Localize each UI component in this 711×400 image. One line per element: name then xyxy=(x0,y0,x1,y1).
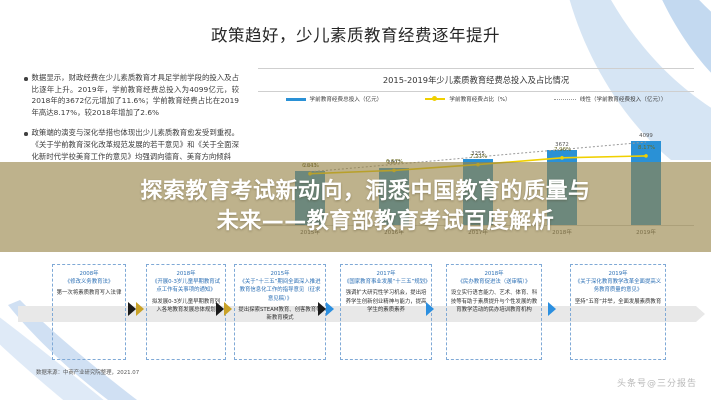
watermark: 头条号@三分报告 xyxy=(617,376,697,389)
timeline-card: 2018年《民办教育促进法（送审稿）》设立实行语言能力、艺术、体育、科技等有助于… xyxy=(446,264,542,360)
bullet-text: 数据显示，财政经费在少儿素质教育才具足学前学段的投入及占比逐年上升。2019年，… xyxy=(32,72,240,118)
article-title-line-1: 探索教育考试新动向，洞悉中国教育的质量与 xyxy=(0,177,711,207)
legend-swatch-line-icon xyxy=(425,98,445,100)
chevron-right-icon xyxy=(224,302,232,316)
bar-value-label: 4099 xyxy=(639,133,653,139)
timeline-card-description: 坚持“五育”并举，全面发展素质教育 xyxy=(575,298,661,306)
timeline-card-year: 2015年 xyxy=(270,269,289,277)
chart-legend: 学前教育经费总投入（亿元） 学前教育经费占比（%） 线性（学前教育经费投入（亿元… xyxy=(258,92,694,105)
timeline-card-year: 2017年 xyxy=(376,269,395,277)
timeline-arrow xyxy=(216,302,232,316)
timeline-card-description: 拟发展0-3岁儿童早期教育列入各地教育发展总体规划 xyxy=(150,298,222,315)
timeline-card-description: 第一次将素质教育写入法律 xyxy=(57,289,122,297)
timeline-arrow xyxy=(426,302,434,316)
bullet-list: 数据显示，财政经费在少儿素质教育才具足学前学段的投入及占比逐年上升。2019年，… xyxy=(24,72,239,171)
legend-label: 学前教育经费总投入（亿元） xyxy=(310,95,383,103)
timeline-card: 2017年《国家教育事业发展“十三五”规划》强调扩大研究性学习机会，提出培养学生… xyxy=(340,264,432,360)
policy-timeline: 2008年《修改义务教育法》第一次将素质教育写入法律2018年《开展0-3岁儿童… xyxy=(18,262,696,364)
legend-item-bar: 学前教育经费总投入（亿元） xyxy=(286,95,383,103)
timeline-card: 2008年《修改义务教育法》第一次将素质教育写入法律 xyxy=(52,264,126,360)
legend-item-line: 学前教育经费占比（%） xyxy=(425,95,510,103)
article-title-line-2: 未来——教育部教育考试百度解析 xyxy=(0,207,711,237)
timeline-card-description: 强调扩大研究性学习机会，提出培养学生创新创业精神与能力，提高学生的素质素养 xyxy=(344,289,428,314)
timeline-card-description: 提出探索STEAM教育、创客教育等新教育模式 xyxy=(238,306,322,323)
timeline-card-description: 设立实行语言能力、艺术、体育、科技等有助于素质提升与个性发展的教育教学活动的民办… xyxy=(450,289,538,314)
timeline-card-document: 《开展0-3岁儿童早期教育试点工作有关事项的通知》 xyxy=(150,278,222,295)
legend-item-trendline: 线性（学前教育经费投入（亿元）） xyxy=(554,95,667,103)
chevron-right-icon xyxy=(326,302,334,316)
timeline-card: 2018年《开展0-3岁儿童早期教育试点工作有关事项的通知》拟发展0-3岁儿童早… xyxy=(146,264,226,360)
chevron-right-icon xyxy=(548,302,556,316)
timeline-card-year: 2018年 xyxy=(484,269,503,277)
timeline-card-year: 2018年 xyxy=(176,269,195,277)
chevron-right-icon xyxy=(136,302,144,316)
chart-title: 2015-2019年少儿素质教育经费总投入及占比情况 xyxy=(258,69,694,91)
page-title: 政策趋好，少儿素质教育经费逐年提升 xyxy=(0,22,711,46)
bullet-dot-icon xyxy=(24,77,28,81)
bullet-text: 政策端的演变与深化举措也体现出少儿素质教育愈发受到重视。《关于学前教育深化改革规… xyxy=(32,127,240,162)
chevron-right-icon xyxy=(318,302,326,316)
list-item: 数据显示，财政经费在少儿素质教育才具足学前学段的投入及占比逐年上升。2019年，… xyxy=(24,72,239,118)
timeline-card-list: 2008年《修改义务教育法》第一次将素质教育写入法律2018年《开展0-3岁儿童… xyxy=(18,262,696,364)
chevron-right-icon xyxy=(216,302,224,316)
legend-label: 线性（学前教育经费投入（亿元）） xyxy=(580,95,667,103)
chevron-right-icon xyxy=(426,302,434,316)
timeline-card-document: 《国家教育事业发展“十三五”规划》 xyxy=(344,278,428,286)
article-title-overlay: 探索教育考试新动向，洞悉中国教育的质量与 未来——教育部教育考试百度解析 xyxy=(0,162,711,252)
source-note: 数据来源：中商产业研究院整理，2021.07 xyxy=(36,368,139,376)
list-item: 政策端的演变与深化举措也体现出少儿素质教育愈发受到重视。《关于学前教育深化改革规… xyxy=(24,127,239,162)
legend-label: 学前教育经费占比（%） xyxy=(449,95,510,103)
chevron-right-icon xyxy=(128,302,136,316)
timeline-arrow xyxy=(318,302,334,316)
slide-canvas: 政策趋好，少儿素质教育经费逐年提升 数据显示，财政经费在少儿素质教育才具足学前学… xyxy=(0,0,711,400)
timeline-card-document: 《修改义务教育法》 xyxy=(65,278,114,286)
timeline-card: 2019年《关于深化教育教学改革全面提高义务教育质量的意见》坚持“五育”并举，全… xyxy=(570,264,666,360)
bar-value-label: 3672 xyxy=(555,142,569,148)
timeline-card-document: 《关于“十三五”期间全面深入推进教育信息化工作的指导意见（征求意见稿）》 xyxy=(238,278,322,303)
bullet-dot-icon xyxy=(24,132,28,136)
timeline-card: 2015年《关于“十三五”期间全面深入推进教育信息化工作的指导意见（征求意见稿）… xyxy=(234,264,326,360)
timeline-card-document: 《关于深化教育教学改革全面提高义务教育质量的意见》 xyxy=(574,278,662,295)
timeline-card-document: 《民办教育促进法（送审稿）》 xyxy=(458,278,531,286)
legend-swatch-bar-icon xyxy=(286,98,306,101)
legend-swatch-dotted-icon xyxy=(554,99,576,100)
bar-value-label: 3255 xyxy=(471,151,485,157)
timeline-card-year: 2008年 xyxy=(79,269,98,277)
timeline-arrow xyxy=(128,302,144,316)
timeline-arrow xyxy=(548,302,556,316)
timeline-card-year: 2019年 xyxy=(608,269,627,277)
